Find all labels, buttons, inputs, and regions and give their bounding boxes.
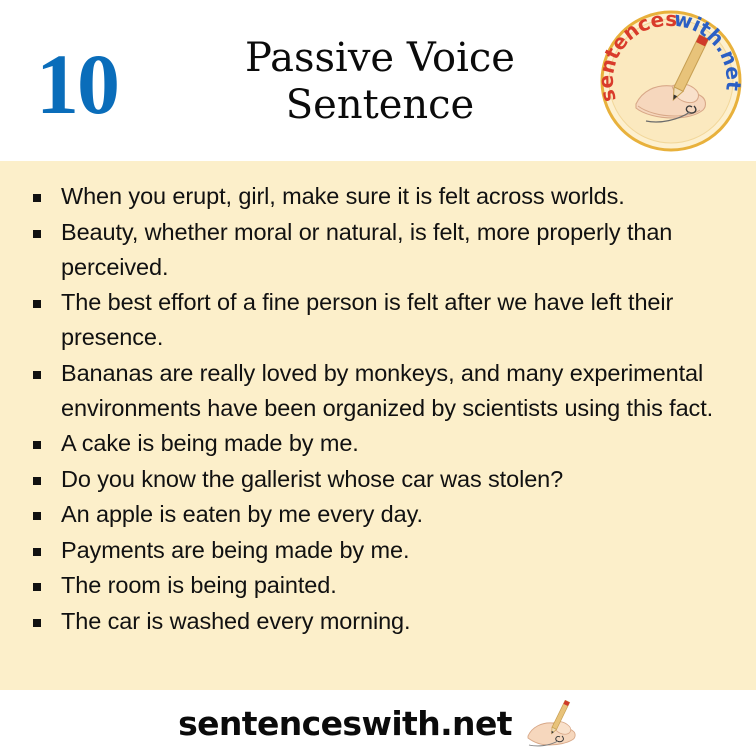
- sentence-text: Payments are being made by me.: [61, 537, 409, 563]
- sentence-text: Do you know the gallerist whose car was …: [61, 466, 563, 492]
- bullet-square-icon: [33, 230, 41, 238]
- sentence-text: An apple is eaten by me every day.: [61, 501, 423, 527]
- bullet-square-icon: [33, 371, 41, 379]
- page-title-line-2: Sentence: [124, 81, 636, 130]
- sentence-text: Beauty, whether moral or natural, is fel…: [61, 219, 672, 280]
- writing-hand-icon: [524, 700, 578, 748]
- footer: sentenceswith.net: [0, 690, 756, 756]
- bullet-square-icon: [33, 441, 41, 449]
- list-item: The room is being painted.: [30, 568, 730, 603]
- list-item: Do you know the gallerist whose car was …: [30, 462, 730, 497]
- sentence-text: A cake is being made by me.: [61, 430, 359, 456]
- sentence-count: 10: [36, 41, 118, 127]
- sentence-text: The best effort of a fine person is felt…: [61, 289, 673, 350]
- list-item: Beauty, whether moral or natural, is fel…: [30, 215, 730, 285]
- sentence-text: When you erupt, girl, make sure it is fe…: [61, 183, 625, 209]
- bullet-square-icon: [33, 300, 41, 308]
- list-item: The car is washed every morning.: [30, 604, 730, 639]
- sentence-text: The car is washed every morning.: [61, 608, 410, 634]
- bullet-square-icon: [33, 619, 41, 627]
- site-logo[interactable]: sentences with.net: [598, 8, 744, 154]
- infographic-root: 10 Passive Voice Sentence: [0, 0, 756, 756]
- footer-brand-text[interactable]: sentenceswith.net: [178, 704, 512, 743]
- bullet-square-icon: [33, 548, 41, 556]
- page-title-line-1: Passive Voice: [124, 34, 636, 83]
- list-item: An apple is eaten by me every day.: [30, 497, 730, 532]
- sentence-text: The room is being painted.: [61, 572, 337, 598]
- bullet-square-icon: [33, 194, 41, 202]
- list-item: A cake is being made by me.: [30, 426, 730, 461]
- list-item: Bananas are really loved by monkeys, and…: [30, 356, 730, 426]
- bullet-square-icon: [33, 477, 41, 485]
- header: 10 Passive Voice Sentence: [0, 0, 756, 161]
- bullet-square-icon: [33, 512, 41, 520]
- sentence-list: When you erupt, girl, make sure it is fe…: [30, 179, 730, 639]
- list-item: The best effort of a fine person is felt…: [30, 285, 730, 355]
- bullet-square-icon: [33, 583, 41, 591]
- list-item: Payments are being made by me.: [30, 533, 730, 568]
- sentence-text: Bananas are really loved by monkeys, and…: [61, 360, 713, 421]
- sentence-panel: When you erupt, girl, make sure it is fe…: [0, 161, 756, 690]
- list-item: When you erupt, girl, make sure it is fe…: [30, 179, 730, 214]
